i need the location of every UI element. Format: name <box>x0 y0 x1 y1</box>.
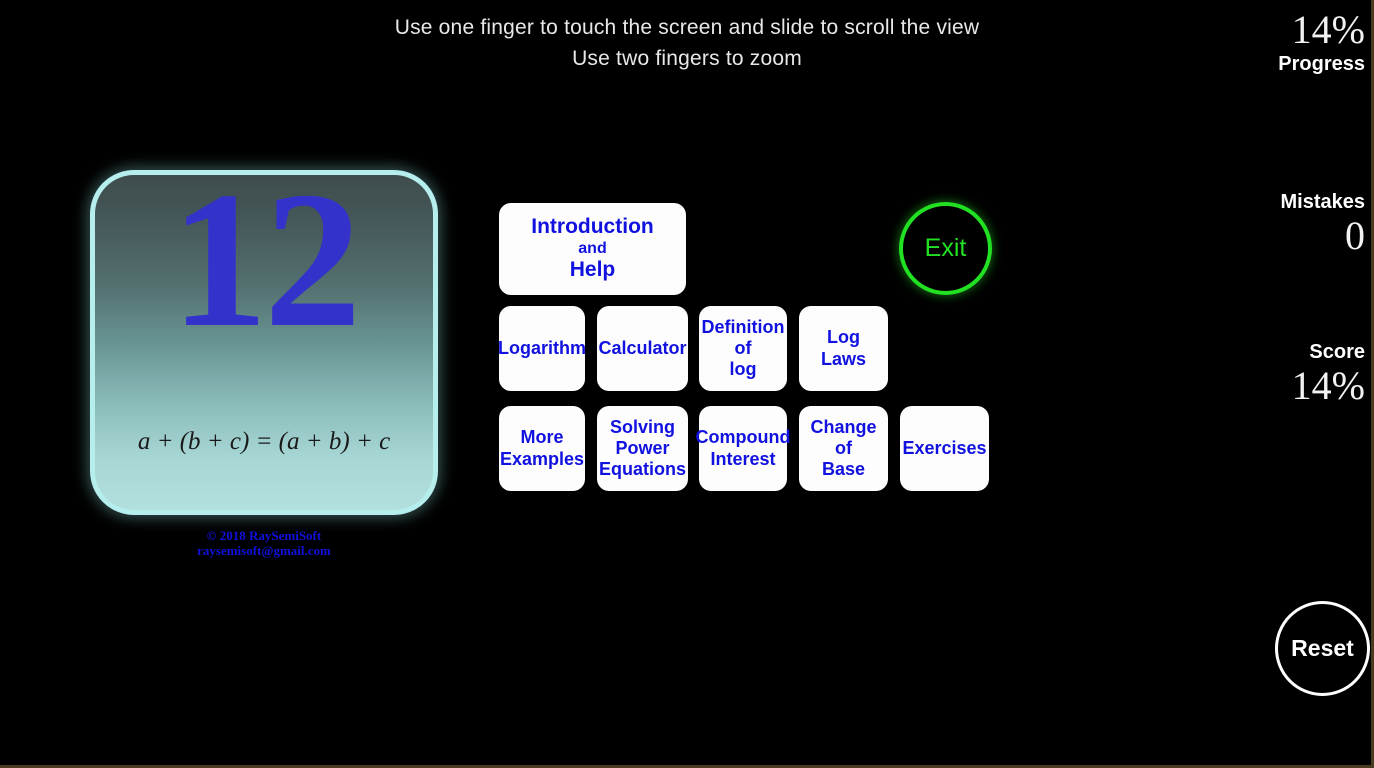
exit-button[interactable]: Exit <box>899 202 992 295</box>
compound-interest-button[interactable]: Compound Interest <box>699 406 787 491</box>
button-label-line: Power <box>615 438 669 459</box>
button-label-line: Logarithm <box>498 338 586 359</box>
button-label-line: log <box>730 359 757 380</box>
score-label: Score <box>1185 340 1365 364</box>
button-label-line: of <box>835 438 852 459</box>
button-label-line: Definition <box>702 317 785 338</box>
change-of-base-button[interactable]: Change of Base <box>799 406 888 491</box>
log-laws-button[interactable]: Log Laws <box>799 306 888 391</box>
reset-label: Reset <box>1291 635 1354 662</box>
button-label-line: Calculator <box>598 338 686 359</box>
mistakes-value: 0 <box>1185 214 1365 258</box>
button-label-line: Laws <box>821 349 866 370</box>
solving-power-equations-button[interactable]: Solving Power Equations <box>597 406 688 491</box>
button-label-line: Base <box>822 459 865 480</box>
button-label-line: Change <box>810 417 876 438</box>
button-label-line: Log <box>827 327 860 348</box>
button-label-line: Solving <box>610 417 675 438</box>
intro-line-3: Help <box>570 258 616 283</box>
button-label-line: Examples <box>500 449 584 470</box>
button-label-line: of <box>735 338 752 359</box>
gesture-instructions: Use one finger to touch the screen and s… <box>0 12 1374 74</box>
contact-email: raysemisoft@gmail.com <box>90 543 438 558</box>
exit-label: Exit <box>925 234 967 263</box>
button-label-line: Interest <box>710 449 775 470</box>
mistakes-label: Mistakes <box>1185 190 1365 214</box>
more-examples-button[interactable]: More Examples <box>499 406 585 491</box>
mistakes-stat: Mistakes 0 <box>1185 190 1365 258</box>
reset-button[interactable]: Reset <box>1275 601 1370 696</box>
progress-stat: 14% Progress <box>1185 8 1365 76</box>
logarithm-button[interactable]: Logarithm <box>499 306 585 391</box>
progress-value: 14% <box>1185 8 1365 52</box>
button-label-line: More <box>520 427 563 448</box>
copyright-line: © 2018 RaySemiSoft <box>90 528 438 543</box>
button-label-line: Compound <box>696 427 791 448</box>
score-value: 14% <box>1185 364 1365 408</box>
instruction-line-1: Use one finger to touch the screen and s… <box>0 12 1374 43</box>
intro-and-help-button[interactable]: Introduction and Help <box>499 203 686 295</box>
copyright-notice: © 2018 RaySemiSoft raysemisoft@gmail.com <box>90 528 438 558</box>
instruction-line-2: Use two fingers to zoom <box>0 43 1374 74</box>
definition-of-log-button[interactable]: Definition of log <box>699 306 787 391</box>
associative-multiplication-formula: a × (b × c) = (a × b) × c <box>95 507 433 515</box>
title-card: 12 a + (b + c) = (a + b) + c a × (b × c)… <box>90 170 438 515</box>
app-screen: Use one finger to touch the screen and s… <box>0 0 1374 768</box>
calculator-button[interactable]: Calculator <box>597 306 688 391</box>
button-label-line: Exercises <box>902 438 986 459</box>
exercises-button[interactable]: Exercises <box>900 406 989 491</box>
intro-line-1: Introduction <box>531 215 653 240</box>
associative-addition-formula: a + (b + c) = (a + b) + c <box>95 428 433 456</box>
chapter-number: 12 <box>95 170 433 358</box>
score-stat: Score 14% <box>1185 340 1365 408</box>
progress-label: Progress <box>1185 52 1365 76</box>
intro-line-2: and <box>578 240 606 259</box>
button-label-line: Equations <box>599 459 686 480</box>
